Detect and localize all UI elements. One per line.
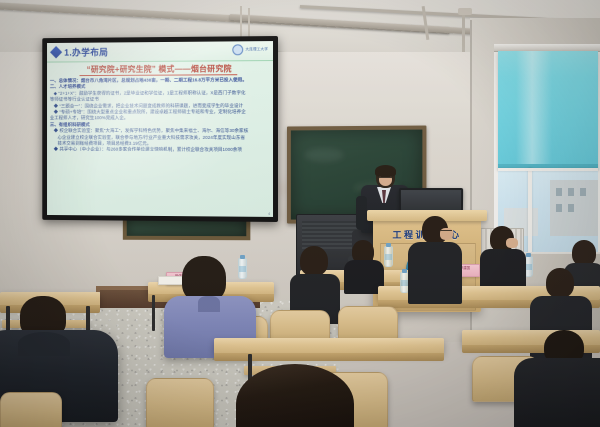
window-mullion-horizontal <box>498 168 598 171</box>
chair-back[interactable] <box>146 378 214 427</box>
chalk-smudge-a <box>305 148 344 162</box>
attendee-head <box>546 268 574 298</box>
window-mullion-vertical <box>528 168 532 254</box>
university-logo: 大连理工大学 <box>233 44 268 55</box>
slide-headline: “研究院+研究生院” 模式——烟台研究院 <box>47 63 273 75</box>
bottle-cap <box>386 243 391 247</box>
projection-screen: 1.办学布局 大连理工大学 “研究院+研究生院” 模式——烟台研究院 一、总体情… <box>42 36 278 222</box>
attendee-hood <box>18 332 70 356</box>
blind-highlight <box>516 51 552 168</box>
building-window <box>568 204 574 212</box>
attendee-body <box>480 249 526 291</box>
ceiling-pipe-drop-2 <box>462 14 465 54</box>
glasses-icon <box>379 177 392 181</box>
bottle-cap <box>240 255 245 259</box>
projection-screen-surface: 1.办学布局 大连理工大学 “研究院+研究生院” 模式——烟台研究院 一、总体情… <box>47 41 273 217</box>
attendee-body <box>514 358 600 427</box>
roller-blind[interactable] <box>498 51 598 168</box>
slide-body: 一、总体情况：烟台市八角湾片区，总规划占地430亩，一期、二期工程16.8万平方… <box>50 77 270 154</box>
water-bottle[interactable] <box>238 258 247 279</box>
desk-leg <box>152 295 155 331</box>
slide-line: ◆ 共享中心（中小企业）：与260多家合作单位建立快响机制，累计校企联合攻关项目… <box>50 147 270 154</box>
building-window <box>556 204 562 212</box>
university-logo-text: 大连理工大学 <box>245 47 268 52</box>
university-logo-mark-icon <box>233 44 244 55</box>
water-bottle[interactable] <box>384 246 393 267</box>
presenter-hair <box>375 165 396 177</box>
classroom-scene: 1.办学布局 大连理工大学 “研究院+研究生院” 模式——烟台研究院 一、总体情… <box>0 0 600 427</box>
attendee-body <box>408 242 462 304</box>
bottle-label <box>385 254 392 260</box>
slide-title: 1.办学布局 <box>64 45 108 58</box>
chair-back[interactable] <box>338 306 398 340</box>
bottle-cap <box>402 269 407 273</box>
attendee-collar <box>198 296 220 312</box>
chair-back[interactable] <box>0 392 62 427</box>
window <box>494 44 600 254</box>
diamond-bullet-icon <box>50 46 62 58</box>
attendee-face <box>506 238 518 248</box>
slide-header-bar: 1.办学布局 大连理工大学 <box>47 41 273 63</box>
building-window <box>568 188 574 196</box>
bottle-cap <box>526 253 531 257</box>
presenter-head <box>376 166 395 188</box>
glasses-icon <box>440 230 452 234</box>
bottle-label <box>525 264 532 270</box>
bottle-label <box>401 280 408 286</box>
slide-page-number: 4 <box>268 212 270 216</box>
headline-underline <box>80 74 238 76</box>
building-window <box>556 188 562 196</box>
handout-paper <box>158 276 184 285</box>
attendee-head <box>300 246 328 276</box>
ceiling-mount-plate <box>458 8 472 15</box>
bottle-label <box>239 266 246 272</box>
slide-line: ◆ 校企联合实验室：聚焦“大海工”，发挥学科特色优势，聚焦中集来福士、海尔、海信… <box>50 128 270 134</box>
building-window <box>580 188 586 196</box>
presenter-arm-left <box>356 196 367 230</box>
presentation-slide: 1.办学布局 大连理工大学 “研究院+研究生院” 模式——烟台研究院 一、总体情… <box>47 41 273 217</box>
desk-near-center <box>214 338 444 354</box>
